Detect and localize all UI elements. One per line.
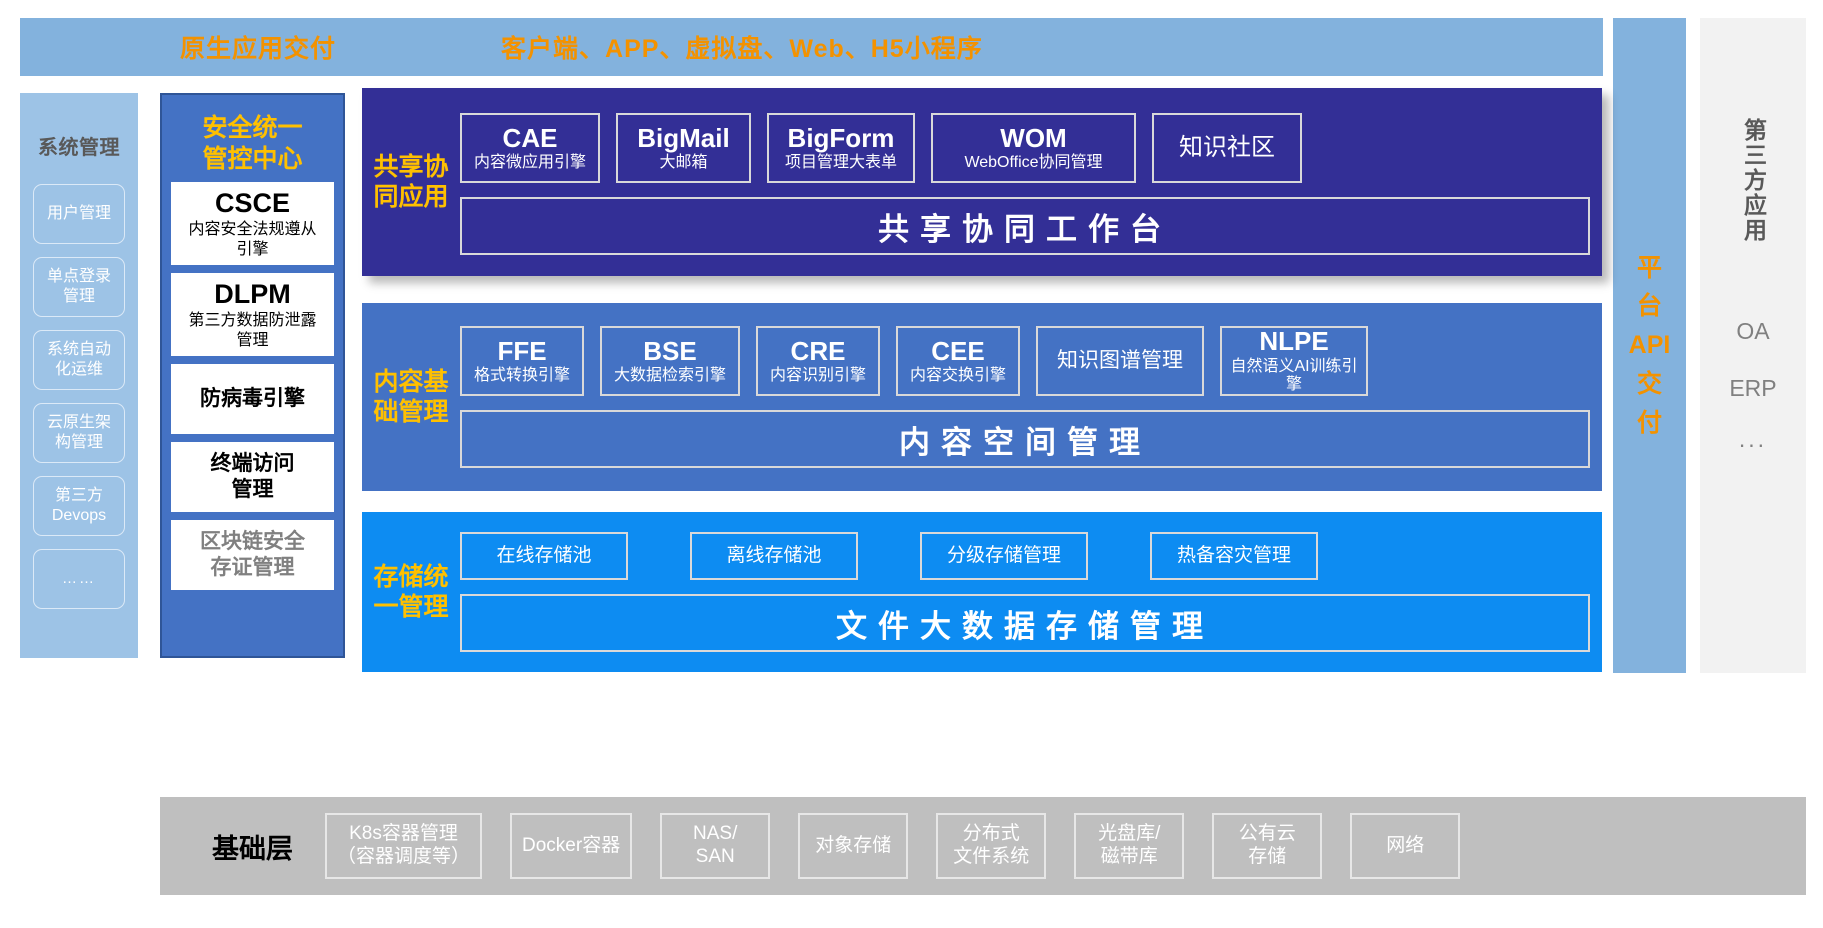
chip-bse[interactable]: BSE 大数据检索引擎 xyxy=(600,326,740,396)
native-app-delivery-label: 原生应用交付 xyxy=(180,29,336,65)
foundation-item-line2: SAN xyxy=(696,846,735,867)
security-card-antivirus-engine[interactable]: 防病毒引擎 xyxy=(171,364,334,434)
shared-collaboration-panel: 共享协 同应用 CAE 内容微应用引擎 BigMail 大邮箱 BigForm … xyxy=(362,88,1602,276)
sys-item-more[interactable]: …… xyxy=(33,549,125,609)
security-card-desc-line1: 第三方数据防泄露 xyxy=(188,311,316,330)
sys-item-line1: 系统自动 xyxy=(47,341,111,358)
platform-api-label-3: API xyxy=(1629,326,1671,365)
chip-label: 知识社区 xyxy=(1179,134,1275,163)
sys-item-line1: 第三方 xyxy=(55,487,103,504)
chip-code: CEE xyxy=(931,337,984,366)
sys-item-third-party-devops[interactable]: 第三方 Devops xyxy=(33,476,125,536)
chip-cee[interactable]: CEE 内容交换引擎 xyxy=(896,326,1020,396)
third-party-title: 第三方应用 xyxy=(1737,118,1768,243)
foundation-item-line1: 光盘库/ xyxy=(1098,823,1160,844)
sys-item-sso-management[interactable]: 单点登录 管理 xyxy=(33,257,125,317)
security-card-label-line1: 终端访问 xyxy=(211,451,295,477)
chip-code: CAE xyxy=(503,124,558,153)
chip-desc: 格式转换引擎 xyxy=(474,367,570,386)
system-management-column: 系统管理 用户管理 单点登录 管理 系统自动 化运维 云原生架 构管理 xyxy=(20,93,138,658)
storage-side-label: 存储统 一管理 xyxy=(362,562,460,622)
platform-api-column: 平 台 API 交 付 xyxy=(1613,18,1686,673)
chip-online-storage-pool[interactable]: 在线存储池 xyxy=(460,532,628,580)
third-party-app-column: 第三方应用 OA ERP ... xyxy=(1700,18,1806,673)
chip-code: CRE xyxy=(791,337,846,366)
content-base-side-label: 内容基 础管理 xyxy=(362,367,460,427)
security-card-terminal-access-management[interactable]: 终端访问 管理 xyxy=(171,442,334,512)
content-base-management-panel: 内容基 础管理 FFE 格式转换引擎 BSE 大数据检索引擎 CRE 内容识别引… xyxy=(362,303,1602,491)
chip-desc: 内容交换引擎 xyxy=(910,367,1006,386)
foundation-item-line2: （容器调度等） xyxy=(337,846,470,867)
security-center-header: 安全统一 管控中心 xyxy=(202,113,302,174)
foundation-item-line2: 磁带库 xyxy=(1101,846,1158,867)
chip-wom[interactable]: WOM WebOffice协同管理 xyxy=(931,113,1136,183)
chip-code: BigMail xyxy=(637,124,729,153)
chip-label: 知识图谱管理 xyxy=(1057,348,1183,373)
storage-body: 在线存储池 离线存储池 分级存储管理 热备容灾管理 文件大数据存储管理 xyxy=(460,532,1602,652)
chip-desc: 内容微应用引擎 xyxy=(474,154,586,173)
security-control-center-column: 安全统一 管控中心 CSCE 内容安全法规遵从 引擎 DLPM 第三方数据防泄露… xyxy=(160,93,345,658)
security-card-blockchain-evidence-management[interactable]: 区块链安全 存证管理 xyxy=(171,520,334,590)
security-card-csce[interactable]: CSCE 内容安全法规遵从 引擎 xyxy=(171,182,334,265)
foundation-item-network[interactable]: 网络 xyxy=(1350,813,1460,879)
sys-item-line1: 单点登录 xyxy=(47,268,111,285)
chip-bigmail[interactable]: BigMail 大邮箱 xyxy=(616,113,751,183)
chip-desc: 大邮箱 xyxy=(659,154,707,173)
foundation-item-line1: K8s容器管理 xyxy=(349,823,458,844)
chip-code: NLPE xyxy=(1259,327,1328,356)
chip-code: BSE xyxy=(643,337,696,366)
chip-desc: 大数据检索引擎 xyxy=(614,367,726,386)
third-party-item-erp: ERP xyxy=(1729,375,1776,402)
side-label-line1: 共享协 xyxy=(362,152,460,182)
security-card-dlpm[interactable]: DLPM 第三方数据防泄露 管理 xyxy=(171,273,334,356)
security-card-desc-line2: 管理 xyxy=(236,331,268,350)
side-label-line2: 一管理 xyxy=(362,592,460,622)
foundation-item-line1: Docker容器 xyxy=(522,835,620,858)
foundation-item-line1: 公有云 xyxy=(1239,823,1296,844)
security-card-code: CSCE xyxy=(215,188,290,219)
side-label-line2: 同应用 xyxy=(362,182,460,212)
chip-code: WOM xyxy=(1000,124,1066,153)
sys-item-ellipsis: …… xyxy=(62,570,96,588)
sys-item-line1: 云原生架 xyxy=(47,414,111,431)
foundation-layer-header: 基础层 xyxy=(212,827,293,866)
platform-api-label-5: 付 xyxy=(1637,404,1662,443)
sys-item-line2: 管理 xyxy=(63,288,95,305)
chip-code: FFE xyxy=(497,337,546,366)
chip-desc: WebOffice协同管理 xyxy=(964,154,1102,173)
foundation-item-line1: 分布式 xyxy=(963,823,1020,844)
security-card-label: 防病毒引擎 xyxy=(200,386,305,412)
chip-tiered-storage-management[interactable]: 分级存储管理 xyxy=(920,532,1088,580)
chip-knowledge-graph-management[interactable]: 知识图谱管理 xyxy=(1036,326,1204,396)
storage-management-panel: 存储统 一管理 在线存储池 离线存储池 分级存储管理 热备容灾管理 文件大数据存… xyxy=(362,512,1602,672)
content-space-management-bar[interactable]: 内容空间管理 xyxy=(460,410,1590,468)
chip-hot-backup-disaster-recovery[interactable]: 热备容灾管理 xyxy=(1150,532,1318,580)
chip-label: 分级存储管理 xyxy=(947,545,1061,568)
chip-cre[interactable]: CRE 内容识别引擎 xyxy=(756,326,880,396)
chip-code: BigForm xyxy=(788,124,895,153)
side-label-line1: 存储统 xyxy=(362,562,460,592)
shared-collaboration-chip-row: CAE 内容微应用引擎 BigMail 大邮箱 BigForm 项目管理大表单 … xyxy=(460,113,1602,183)
security-card-label-line2: 管理 xyxy=(232,477,274,503)
security-center-header-line1: 安全统一 xyxy=(202,113,302,144)
sys-item-line2: Devops xyxy=(52,507,106,524)
platform-api-label-1: 平 xyxy=(1637,249,1662,288)
top-delivery-banner: 原生应用交付 客户端、APP、虚拟盘、Web、H5小程序 xyxy=(20,18,1603,76)
chip-label: 在线存储池 xyxy=(496,545,591,568)
foundation-item-docker[interactable]: Docker容器 xyxy=(510,813,632,879)
side-label-line1: 内容基 xyxy=(362,367,460,397)
shared-collaboration-body: CAE 内容微应用引擎 BigMail 大邮箱 BigForm 项目管理大表单 … xyxy=(460,109,1602,255)
client-channels-label: 客户端、APP、虚拟盘、Web、H5小程序 xyxy=(501,29,983,65)
chip-label: 热备容灾管理 xyxy=(1177,545,1291,568)
foundation-item-public-cloud-storage[interactable]: 公有云 存储 xyxy=(1212,813,1322,879)
sys-item-line2: 构管理 xyxy=(55,434,103,451)
chip-knowledge-community[interactable]: 知识社区 xyxy=(1152,113,1302,183)
sys-item-cloud-native-architecture[interactable]: 云原生架 构管理 xyxy=(33,403,125,463)
shared-collaboration-workbench-bar[interactable]: 共享协同工作台 xyxy=(460,197,1590,255)
platform-api-label-4: 交 xyxy=(1637,365,1662,404)
shared-collaboration-side-label: 共享协 同应用 xyxy=(362,152,460,212)
system-management-header: 系统管理 xyxy=(38,131,120,160)
foundation-item-nas-san[interactable]: NAS/ SAN xyxy=(660,813,770,879)
storage-chip-row: 在线存储池 离线存储池 分级存储管理 热备容灾管理 xyxy=(460,532,1602,580)
chip-nlpe[interactable]: NLPE 自然语义AI训练引擎 xyxy=(1220,326,1368,396)
content-base-chip-row: FFE 格式转换引擎 BSE 大数据检索引擎 CRE 内容识别引擎 CEE 内容… xyxy=(460,326,1602,396)
platform-api-label-2: 台 xyxy=(1637,287,1662,326)
chip-ffe[interactable]: FFE 格式转换引擎 xyxy=(460,326,584,396)
sys-item-line2: 化运维 xyxy=(55,361,103,378)
foundation-item-line1: NAS/ xyxy=(693,823,737,844)
sys-item-user-management[interactable]: 用户管理 xyxy=(33,184,125,244)
security-center-header-line2: 管控中心 xyxy=(202,144,302,175)
third-party-item-more: ... xyxy=(1739,426,1767,453)
foundation-item-distributed-fs[interactable]: 分布式 文件系统 xyxy=(936,813,1046,879)
chip-desc: 内容识别引擎 xyxy=(770,367,866,386)
content-base-body: FFE 格式转换引擎 BSE 大数据检索引擎 CRE 内容识别引擎 CEE 内容… xyxy=(460,326,1602,468)
chip-cae[interactable]: CAE 内容微应用引擎 xyxy=(460,113,600,183)
chip-desc: 项目管理大表单 xyxy=(785,154,897,173)
chip-label: 离线存储池 xyxy=(726,545,821,568)
side-label-line2: 础管理 xyxy=(362,397,460,427)
security-card-code: DLPM xyxy=(214,279,291,310)
foundation-layer: 基础层 K8s容器管理 （容器调度等） Docker容器 NAS/ SAN 对象… xyxy=(160,797,1806,895)
security-card-desc-line1: 内容安全法规遵从 xyxy=(188,220,316,239)
foundation-item-line2: 文件系统 xyxy=(953,846,1029,867)
foundation-item-line1: 对象存储 xyxy=(815,835,891,858)
architecture-diagram: 原生应用交付 客户端、APP、虚拟盘、Web、H5小程序 平 台 API 交 付… xyxy=(0,0,1823,928)
foundation-item-line1: 网络 xyxy=(1386,835,1424,858)
foundation-item-line2: 存储 xyxy=(1248,846,1286,867)
foundation-item-optical-tape-library[interactable]: 光盘库/ 磁带库 xyxy=(1074,813,1184,879)
chip-offline-storage-pool[interactable]: 离线存储池 xyxy=(690,532,858,580)
foundation-item-object-storage[interactable]: 对象存储 xyxy=(798,813,908,879)
sys-item-automation-ops[interactable]: 系统自动 化运维 xyxy=(33,330,125,390)
chip-bigform[interactable]: BigForm 项目管理大表单 xyxy=(767,113,915,183)
sys-item-line1: 用户管理 xyxy=(47,205,111,222)
security-card-desc-line2: 引擎 xyxy=(236,240,268,259)
chip-desc: 自然语义AI训练引擎 xyxy=(1230,358,1358,395)
foundation-item-k8s[interactable]: K8s容器管理 （容器调度等） xyxy=(325,813,482,879)
file-bigdata-storage-management-bar[interactable]: 文件大数据存储管理 xyxy=(460,594,1590,652)
security-card-label-line2: 存证管理 xyxy=(211,555,295,581)
third-party-item-oa: OA xyxy=(1736,318,1769,345)
foundation-items: K8s容器管理 （容器调度等） Docker容器 NAS/ SAN 对象存储 分… xyxy=(325,813,1460,879)
security-card-label-line1: 区块链安全 xyxy=(200,529,305,555)
